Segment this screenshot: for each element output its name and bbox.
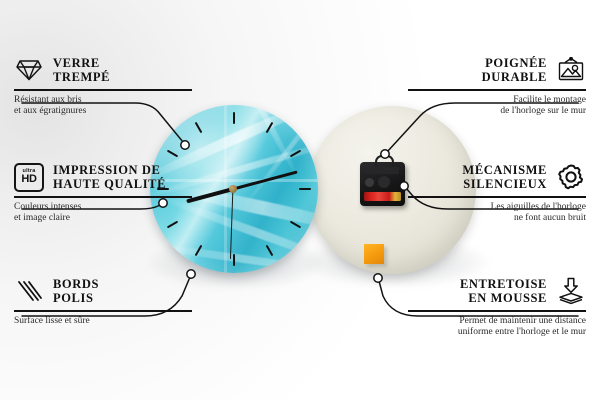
feature-title: IMPRESSION DEHAUTE QUALITÉ — [53, 163, 166, 192]
feature-rule — [408, 196, 586, 198]
mechanism-slot — [365, 167, 399, 174]
hour-marker — [233, 112, 235, 124]
polished-edges-icon — [14, 276, 44, 306]
feature-title: POIGNÉEDURABLE — [482, 56, 547, 85]
feature-description: Résistant aux briset aux égratignures — [14, 95, 192, 118]
clock-mechanism — [360, 162, 405, 206]
feature-poignee-durable: POIGNÉEDURABLE Facilite le montagede l'h… — [408, 55, 586, 118]
feature-header: ENTRETOISEEN MOUSSE — [408, 276, 586, 306]
ultra-hd-icon: ultra HD — [14, 162, 44, 192]
feature-header: POIGNÉEDURABLE — [408, 55, 586, 85]
diamond-icon — [14, 55, 44, 85]
feature-title: BORDSPOLIS — [53, 277, 99, 306]
feature-title: ENTRETOISEEN MOUSSE — [460, 277, 547, 306]
feature-description: Facilite le montagede l'horloge sur le m… — [408, 95, 586, 118]
mechanism-dial-large — [378, 176, 390, 188]
feature-header: ultra HD IMPRESSION DEHAUTE QUALITÉ — [14, 162, 192, 192]
feature-impression-haute-qualite: ultra HD IMPRESSION DEHAUTE QUALITÉ Coul… — [14, 162, 192, 225]
mechanism-dial-small — [365, 178, 374, 187]
aa-battery — [364, 192, 401, 201]
feature-rule — [408, 89, 586, 91]
foam-spacer-icon — [556, 276, 586, 306]
hour-marker — [233, 254, 235, 266]
feature-rule — [408, 310, 586, 312]
feature-bords-polis: BORDSPOLIS Surface lisse et sûre — [14, 276, 192, 327]
feature-title: MÉCANISMESILENCIEUX — [462, 163, 547, 192]
ultra-hd-icon-main-text: HD — [21, 174, 36, 185]
infographic-canvas: VERRETREMPÉ Résistant aux briset aux égr… — [0, 0, 600, 400]
hanging-picture-icon — [556, 55, 586, 85]
feature-rule — [14, 89, 192, 91]
feature-description: Les aiguilles de l'horlogene font aucun … — [408, 202, 586, 225]
feature-mecanisme-silencieux: MÉCANISMESILENCIEUX Les aiguilles de l'h… — [408, 162, 586, 225]
feature-description: Surface lisse et sûre — [14, 316, 192, 328]
feature-header: MÉCANISMESILENCIEUX — [408, 162, 586, 192]
feature-title: VERRETREMPÉ — [53, 56, 110, 85]
feature-verre-trempe: VERRETREMPÉ Résistant aux briset aux égr… — [14, 55, 192, 118]
feature-rule — [14, 196, 192, 198]
feature-header: BORDSPOLIS — [14, 276, 192, 306]
feature-rule — [14, 310, 192, 312]
feature-header: VERRETREMPÉ — [14, 55, 192, 85]
feature-description: Couleurs intenseset image claire — [14, 202, 192, 225]
feature-description: Permet de maintenir une distanceuniforme… — [408, 316, 586, 339]
feature-entretoise-en-mousse: ENTRETOISEEN MOUSSE Permet de maintenir … — [408, 276, 586, 339]
hour-marker — [299, 188, 311, 190]
foam-spacer-square — [364, 244, 384, 264]
gear-icon — [556, 162, 586, 192]
hand-center-cap — [229, 185, 237, 193]
